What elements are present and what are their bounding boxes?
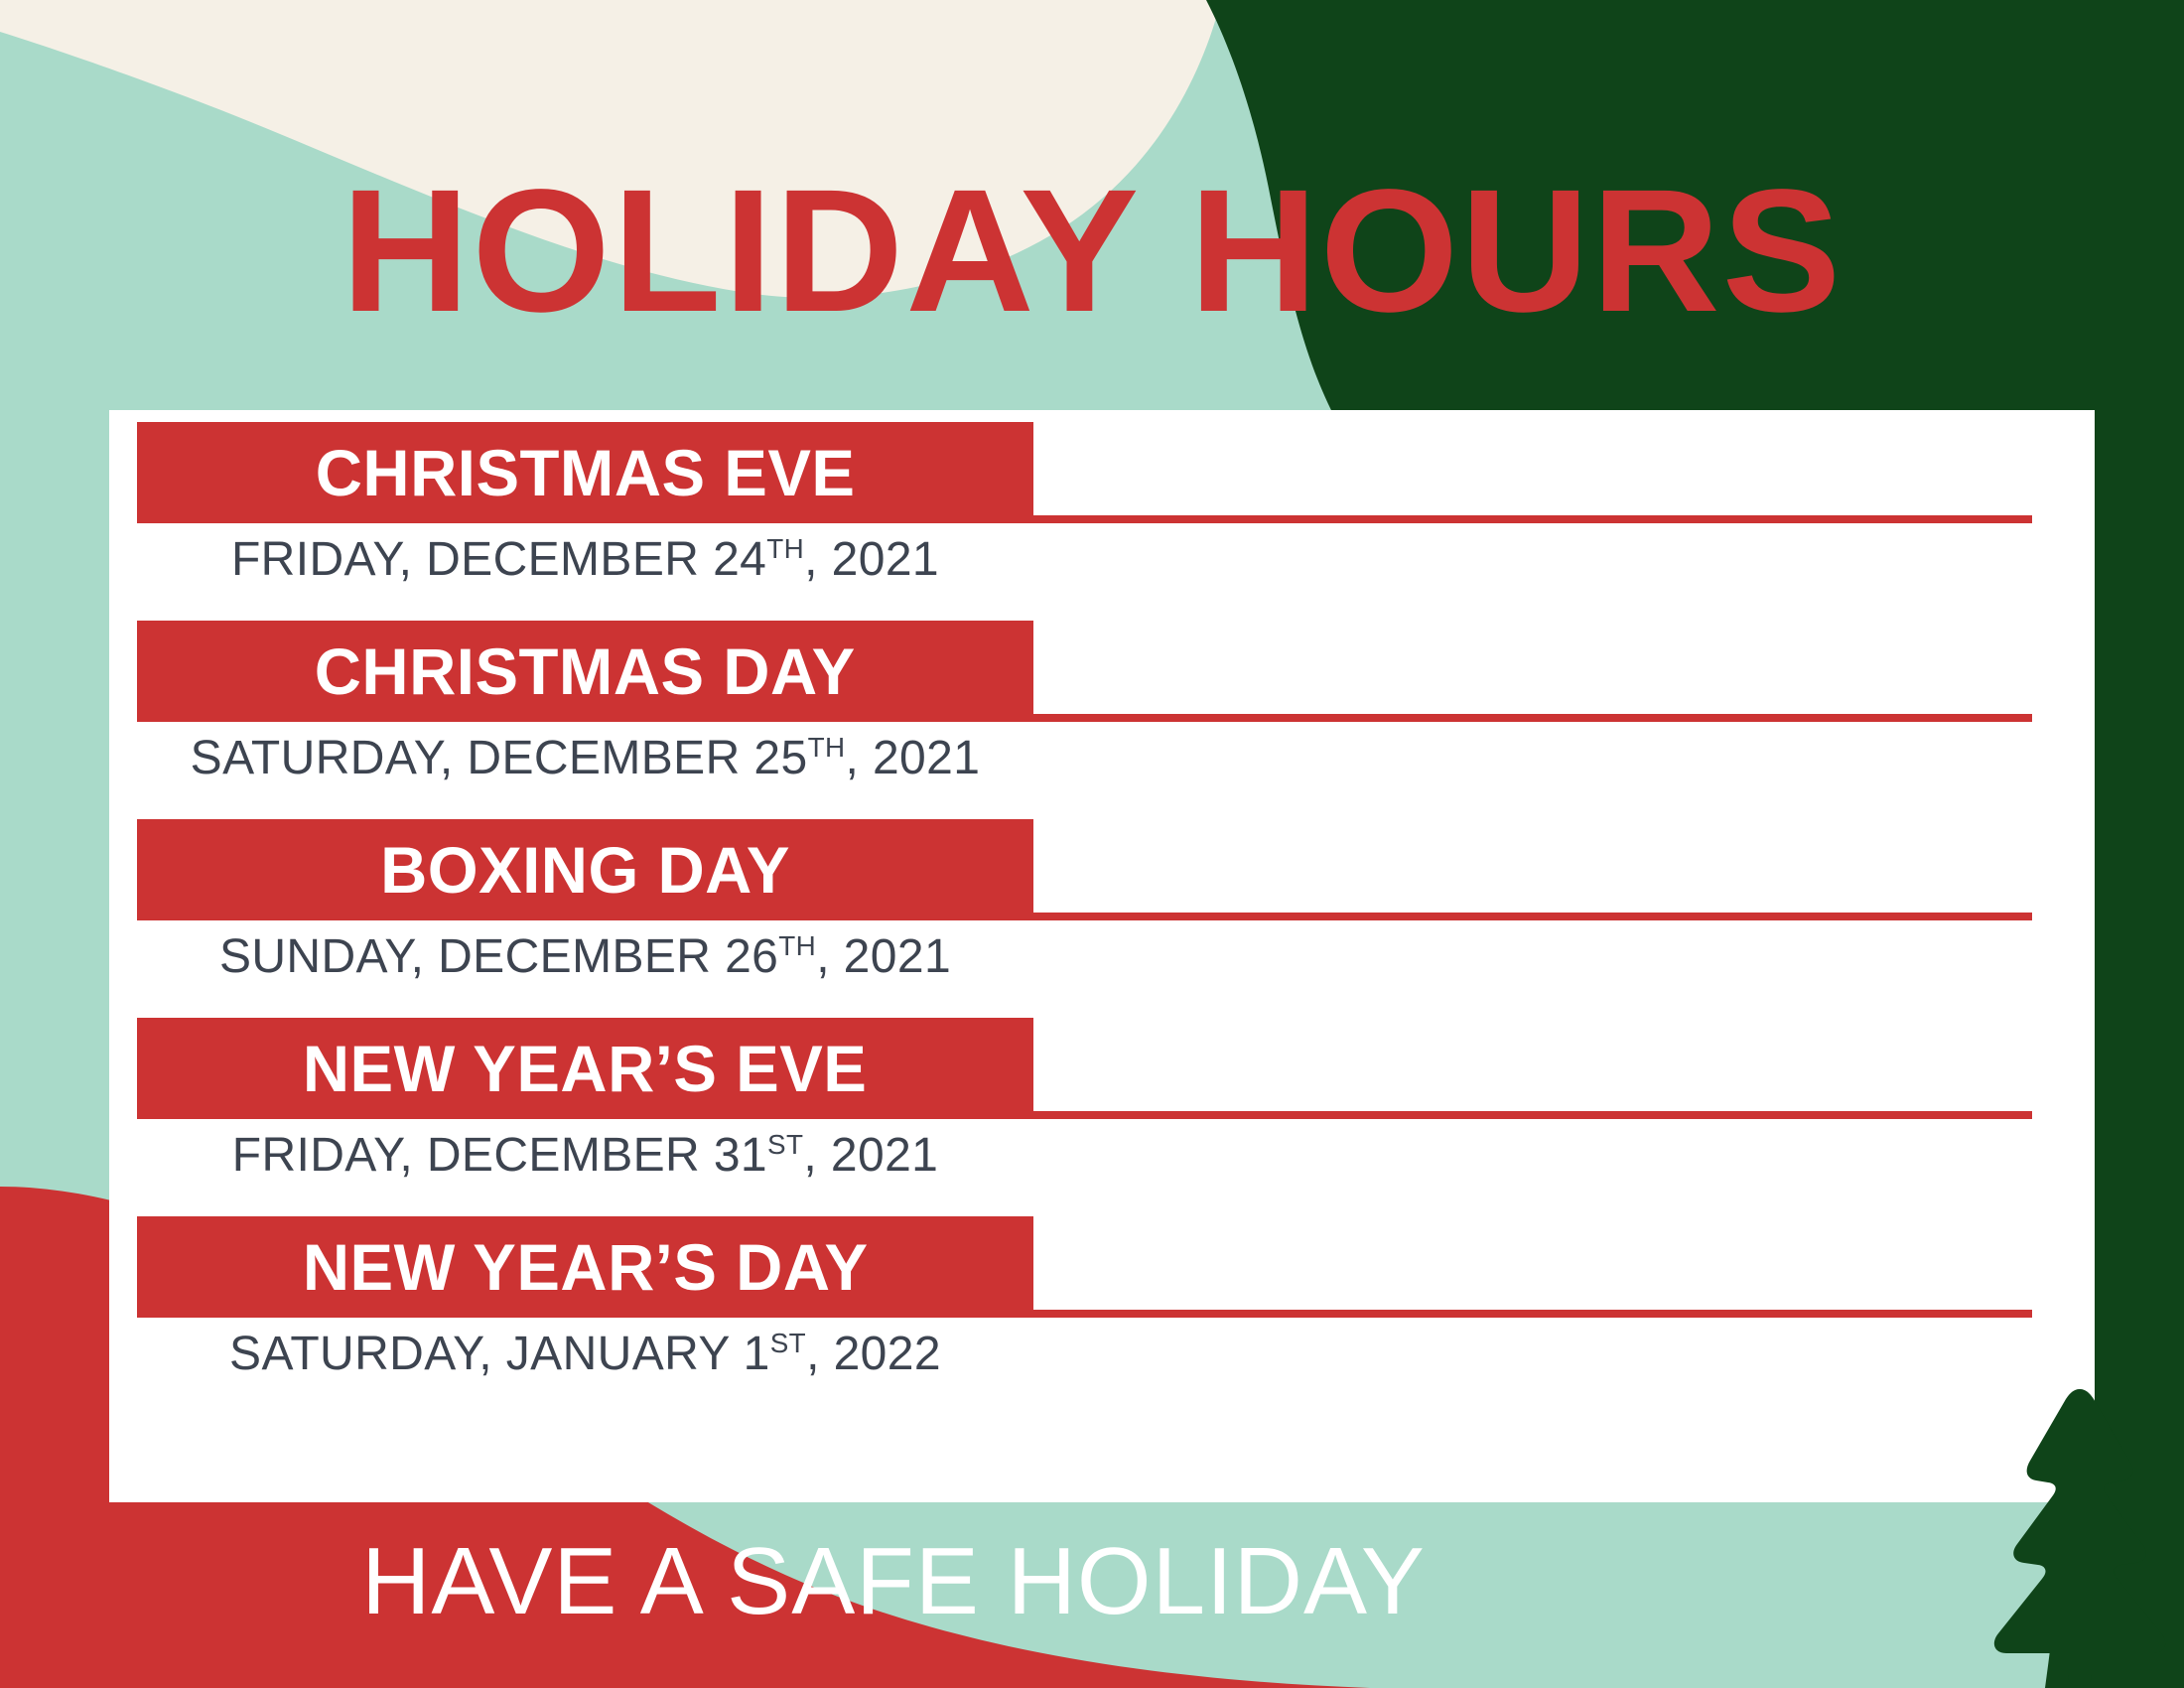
- date-ordinal: ST: [770, 1328, 806, 1358]
- date-prefix: SUNDAY, DECEMBER 26: [219, 930, 778, 983]
- schedule-list: CHRISTMAS EVE FRIDAY, DECEMBER 24TH, 202…: [109, 410, 2095, 1502]
- date-ordinal: TH: [778, 930, 816, 961]
- holiday-bar: BOXING DAY: [137, 819, 1033, 920]
- holiday-bar-wrap: CHRISTMAS EVE: [137, 422, 2043, 523]
- schedule-row: NEW YEAR’S DAY SATURDAY, JANUARY 1ST, 20…: [109, 1204, 2095, 1403]
- holiday-bar: NEW YEAR’S DAY: [137, 1216, 1033, 1318]
- holiday-name: BOXING DAY: [380, 837, 790, 903]
- hours-writein-rule: [1033, 1111, 2032, 1119]
- date-ordinal: TH: [766, 533, 804, 564]
- page-title: HOLIDAY HOURS: [0, 164, 2184, 339]
- christmas-tree-icon: [1980, 1385, 2179, 1688]
- holiday-bar: CHRISTMAS EVE: [137, 422, 1033, 523]
- date-ordinal: ST: [767, 1129, 803, 1160]
- date-prefix: FRIDAY, DECEMBER 31: [232, 1129, 767, 1182]
- schedule-row: BOXING DAY SUNDAY, DECEMBER 26TH, 2021: [109, 807, 2095, 1006]
- date-tail: , 2021: [803, 1129, 938, 1182]
- holiday-name: CHRISTMAS EVE: [316, 440, 856, 505]
- holiday-date: SATURDAY, DECEMBER 25TH, 2021: [137, 730, 1033, 787]
- hours-writein-rule: [1033, 714, 2032, 722]
- holiday-date: FRIDAY, DECEMBER 31ST, 2021: [137, 1127, 1033, 1185]
- date-tail: , 2022: [806, 1328, 941, 1380]
- holiday-date: SATURDAY, JANUARY 1ST, 2022: [137, 1326, 1033, 1383]
- date-tail: , 2021: [816, 930, 951, 983]
- date-ordinal: TH: [808, 732, 846, 763]
- hours-writein-rule: [1033, 1310, 2032, 1318]
- holiday-name: CHRISTMAS DAY: [315, 638, 856, 704]
- holiday-date: FRIDAY, DECEMBER 24TH, 2021: [137, 531, 1033, 589]
- date-prefix: SATURDAY, JANUARY 1: [229, 1328, 770, 1380]
- date-prefix: FRIDAY, DECEMBER 24: [231, 533, 766, 586]
- footer-message: HAVE A SAFE HOLIDAY: [0, 1534, 1787, 1629]
- holiday-hours-poster: HOLIDAY HOURS CHRISTMAS EVE FRIDAY, DECE…: [0, 0, 2184, 1688]
- hours-writein-rule: [1033, 515, 2032, 523]
- holiday-bar: NEW YEAR’S EVE: [137, 1018, 1033, 1119]
- hours-writein-rule: [1033, 913, 2032, 920]
- holiday-bar: CHRISTMAS DAY: [137, 621, 1033, 722]
- holiday-bar-wrap: NEW YEAR’S EVE: [137, 1018, 2043, 1119]
- schedule-row: CHRISTMAS EVE FRIDAY, DECEMBER 24TH, 202…: [109, 410, 2095, 609]
- holiday-name: NEW YEAR’S EVE: [303, 1036, 868, 1101]
- holiday-bar-wrap: CHRISTMAS DAY: [137, 621, 2043, 722]
- date-prefix: SATURDAY, DECEMBER 25: [191, 732, 808, 784]
- holiday-bar-wrap: BOXING DAY: [137, 819, 2043, 920]
- schedule-row: NEW YEAR’S EVE FRIDAY, DECEMBER 31ST, 20…: [109, 1006, 2095, 1204]
- holiday-bar-wrap: NEW YEAR’S DAY: [137, 1216, 2043, 1318]
- schedule-row: CHRISTMAS DAY SATURDAY, DECEMBER 25TH, 2…: [109, 609, 2095, 807]
- holiday-date: SUNDAY, DECEMBER 26TH, 2021: [137, 928, 1033, 986]
- holiday-name: NEW YEAR’S DAY: [303, 1234, 869, 1300]
- date-tail: , 2021: [845, 732, 980, 784]
- date-tail: , 2021: [804, 533, 939, 586]
